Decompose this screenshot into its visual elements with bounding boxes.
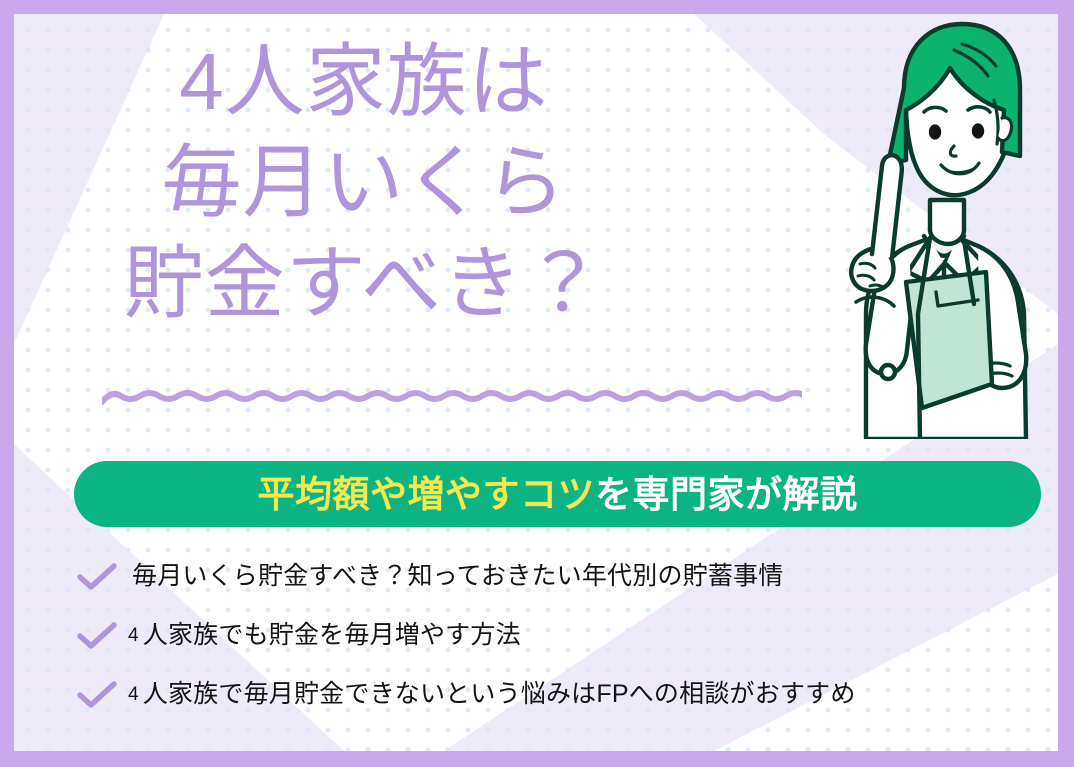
wavy-underline-decoration bbox=[102, 386, 802, 410]
list-item-label: 4人家族でも貯金を毎月増やす方法 bbox=[128, 622, 521, 650]
list-item-text: 人家族で毎月貯金できないという悩みはFPへの相談がおすすめ bbox=[143, 680, 856, 708]
card-canvas: 4人家族は 毎月いくら 貯金すべき？ 平均額や増やすコツを専門家が解説 bbox=[14, 14, 1058, 751]
check-icon bbox=[76, 621, 118, 651]
list-item-number: 4 bbox=[128, 625, 139, 646]
list-item-label: 毎月いくら貯金すべき？知っておきたい年代別の貯蓄事情 bbox=[128, 563, 783, 591]
headline-line-3: 貯金すべき？ bbox=[14, 234, 714, 335]
page-title: 4人家族は 毎月いくら 貯金すべき？ bbox=[14, 32, 714, 334]
subtitle-banner-text: 平均額や増やすコツを専門家が解説 bbox=[258, 476, 858, 513]
check-icon bbox=[76, 680, 118, 710]
headline-line-2: 毎月いくら bbox=[14, 133, 714, 234]
illustration-woman-pointing bbox=[778, 14, 1050, 439]
subtitle-plain-text: を専門家が解説 bbox=[595, 474, 858, 515]
list-item-label: 4人家族で毎月貯金できないという悩みはFPへの相談がおすすめ bbox=[128, 681, 856, 709]
list-item: 4人家族でも貯金を毎月増やす方法 bbox=[76, 606, 1056, 665]
list-item-number: 4 bbox=[128, 684, 139, 705]
headline-line-1: 4人家族は bbox=[14, 32, 714, 133]
subtitle-banner: 平均額や増やすコツを専門家が解説 bbox=[74, 461, 1041, 527]
thumbnail-card: 4人家族は 毎月いくら 貯金すべき？ 平均額や増やすコツを専門家が解説 bbox=[0, 0, 1074, 767]
subtitle-highlight-text: 平均額や増やすコツ bbox=[258, 474, 596, 515]
list-item: 4人家族で毎月貯金できないという悩みはFPへの相談がおすすめ bbox=[76, 665, 1056, 724]
list-item-text: 人家族でも貯金を毎月増やす方法 bbox=[143, 621, 521, 649]
list-item-text: 毎月いくら貯金すべき？知っておきたい年代別の貯蓄事情 bbox=[132, 562, 783, 590]
topic-list: 毎月いくら貯金すべき？知っておきたい年代別の貯蓄事情 4人家族でも貯金を毎月増や… bbox=[76, 547, 1056, 724]
check-icon bbox=[76, 562, 118, 592]
list-item: 毎月いくら貯金すべき？知っておきたい年代別の貯蓄事情 bbox=[76, 547, 1056, 606]
